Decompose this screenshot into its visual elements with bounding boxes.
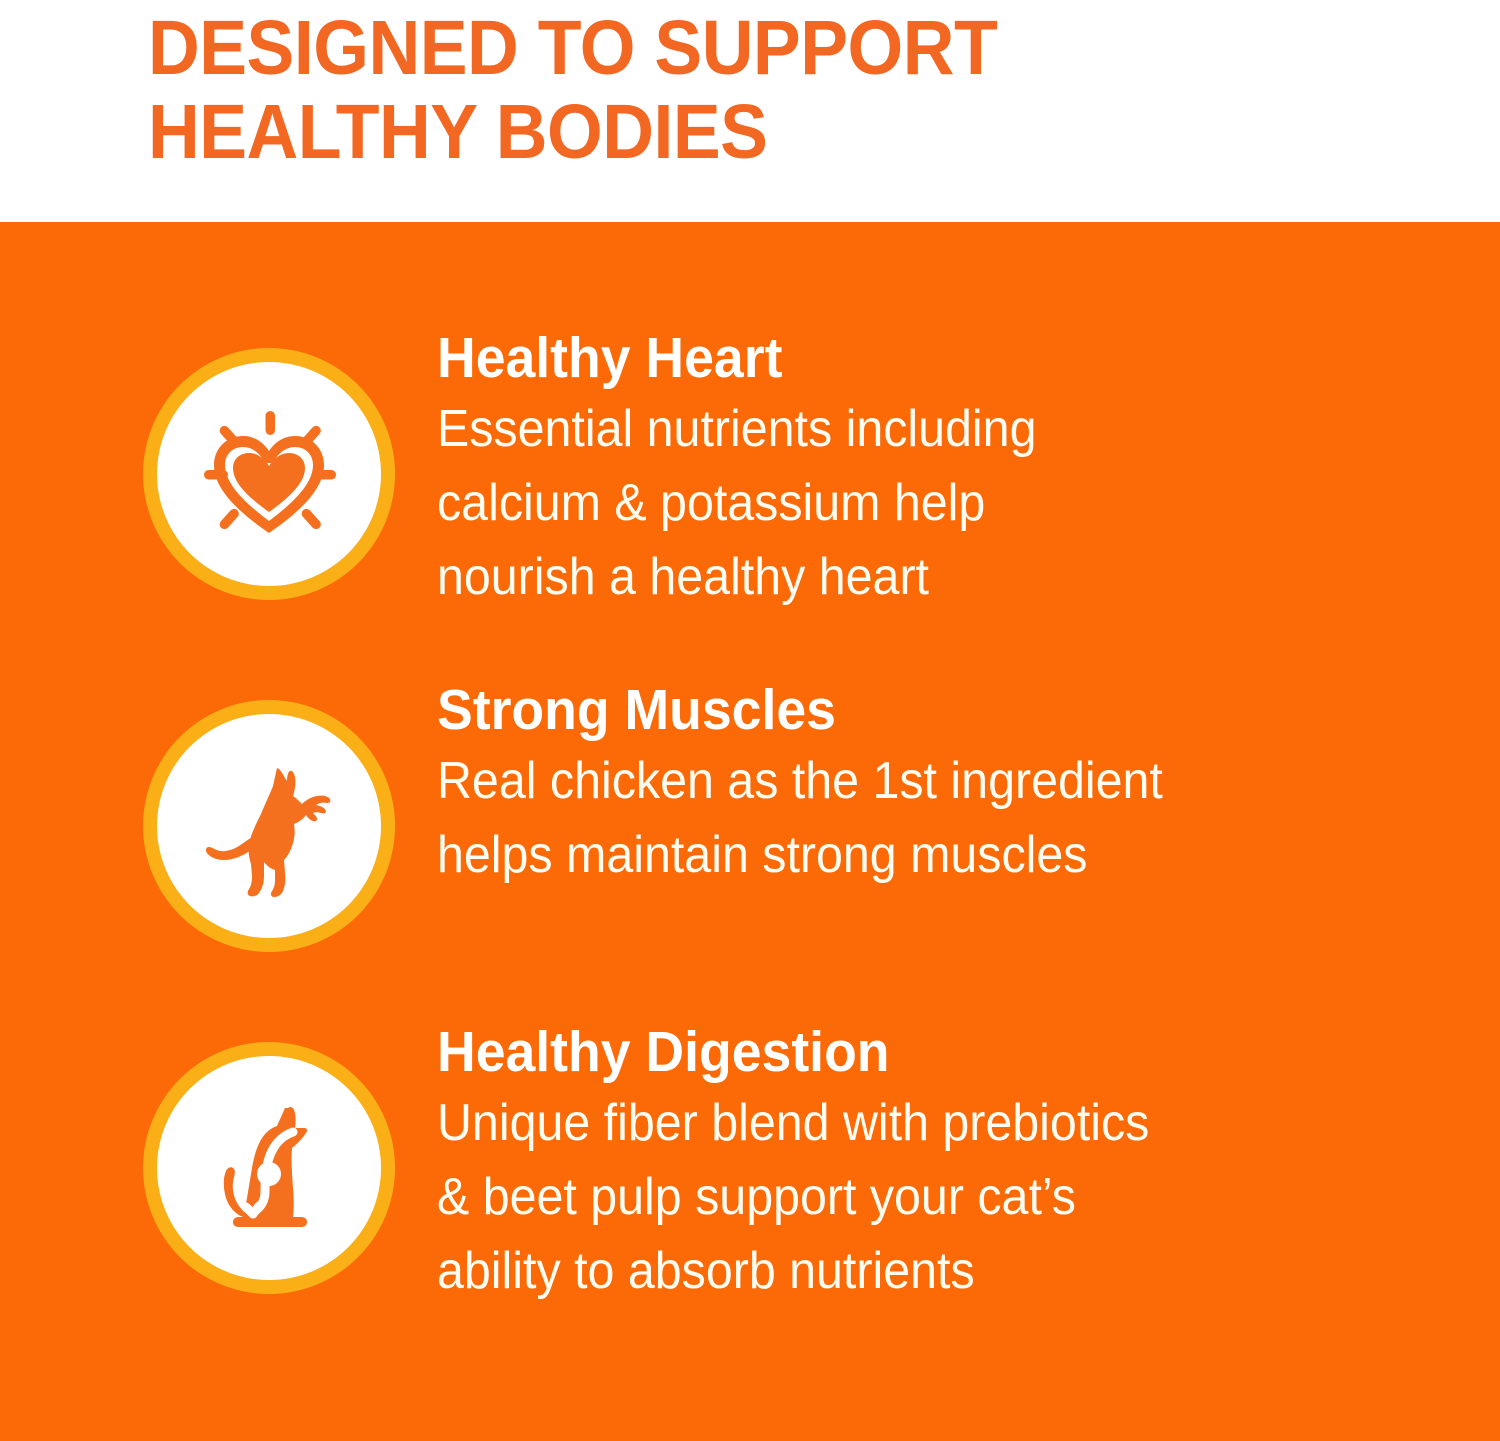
infographic-page: DESIGNED TO SUPPORT HEALTHY BODIES [0, 0, 1500, 1441]
feature-heading: Strong Muscles [437, 678, 1396, 742]
feature-text-healthy-heart: Healthy Heart Essential nutrients includ… [437, 326, 1457, 614]
feature-body: Real chicken as the 1st ingredient helps… [437, 744, 1386, 892]
features-panel: Healthy Heart Essential nutrients includ… [0, 222, 1500, 1441]
feature-heading: Healthy Digestion [437, 1020, 1396, 1084]
icon-badge-healthy-digestion [143, 1042, 395, 1294]
icon-disc [157, 1056, 381, 1280]
page-title: DESIGNED TO SUPPORT HEALTHY BODIES [148, 2, 1405, 174]
feature-text-healthy-digestion: Healthy Digestion Unique fiber blend wit… [437, 1020, 1457, 1308]
icon-disc [157, 362, 381, 586]
radiating-heart-icon [194, 399, 344, 549]
icon-badge-healthy-heart [143, 348, 395, 600]
icon-badge-strong-muscles [143, 700, 395, 952]
feature-body: Unique fiber blend with prebiotics & bee… [437, 1086, 1386, 1308]
sitting-cat-digestion-icon [189, 1088, 349, 1248]
header-band: DESIGNED TO SUPPORT HEALTHY BODIES [0, 0, 1500, 222]
leaping-cat-icon [189, 746, 349, 906]
feature-heading: Healthy Heart [437, 326, 1396, 390]
feature-body: Essential nutrients including calcium & … [437, 392, 1386, 614]
icon-disc [157, 714, 381, 938]
feature-text-strong-muscles: Strong Muscles Real chicken as the 1st i… [437, 678, 1457, 892]
